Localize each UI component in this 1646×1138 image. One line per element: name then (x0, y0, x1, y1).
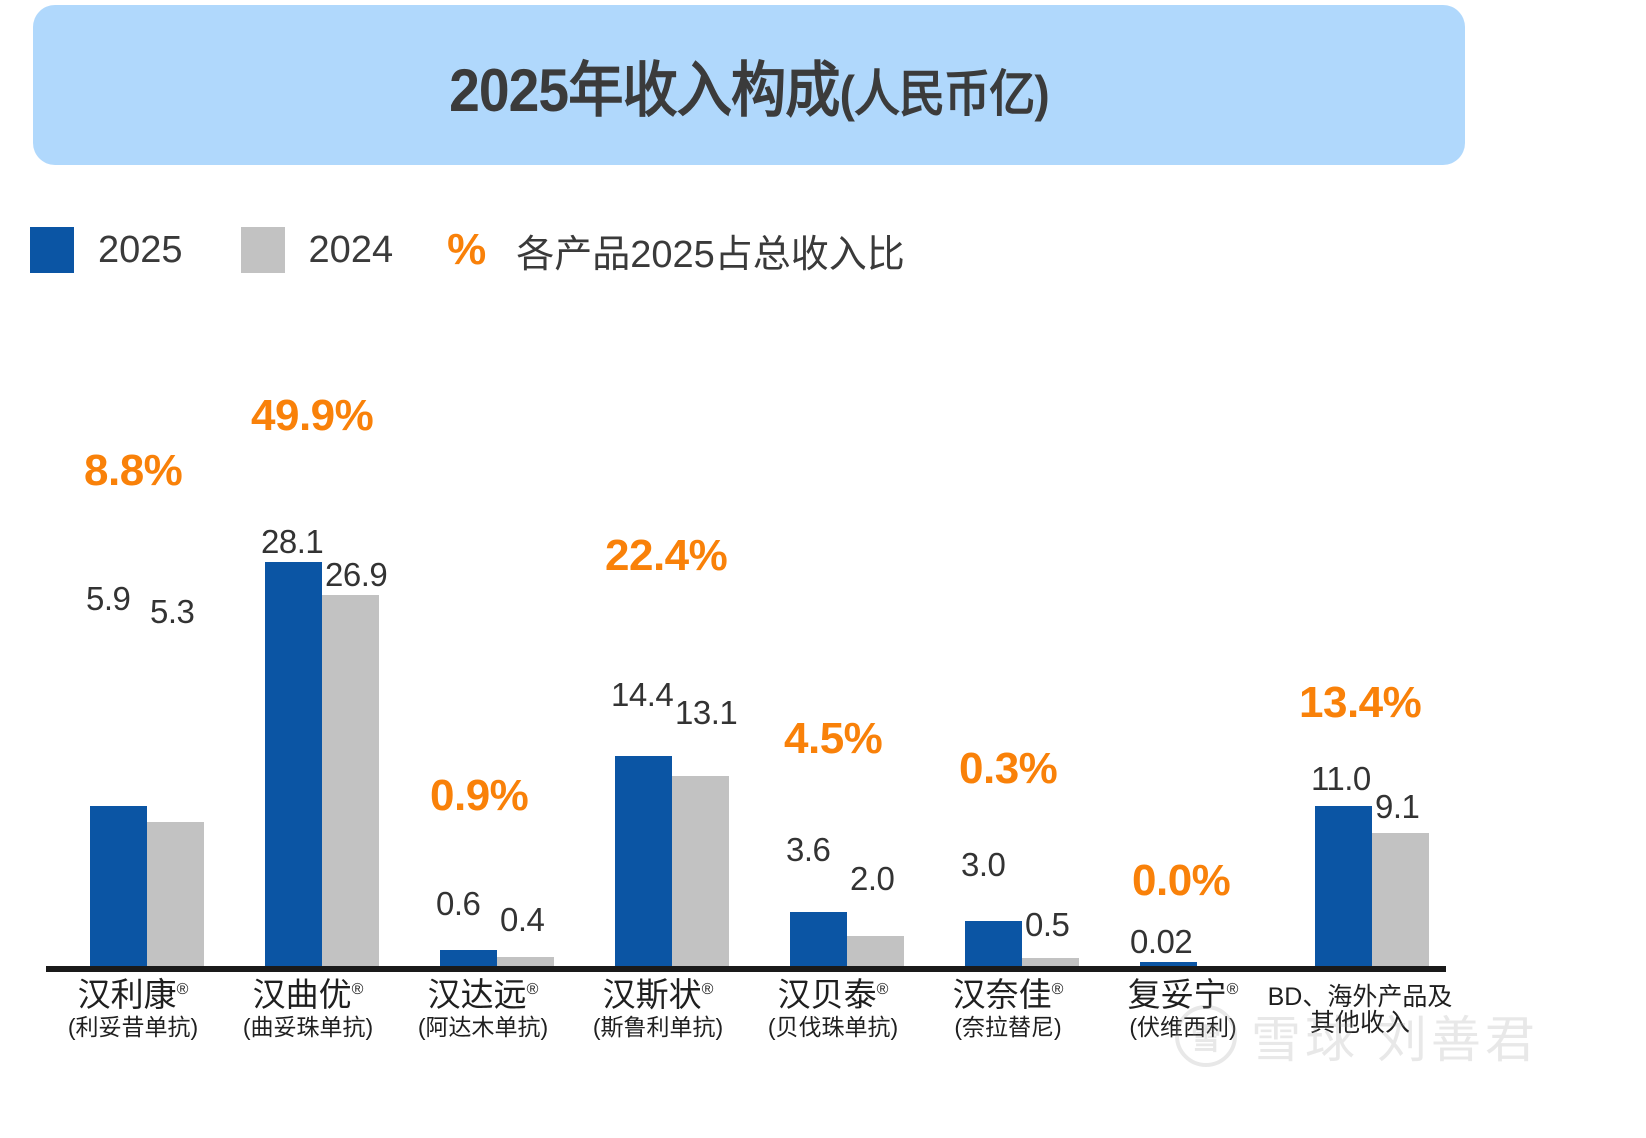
bar-2025[interactable] (1140, 962, 1197, 966)
x-tick-name: 汉贝泰® (778, 976, 889, 1013)
x-tick-label: 汉斯状® (斯鲁利单抗) (563, 978, 753, 1040)
x-tick-name: 汉曲优® (253, 976, 364, 1013)
bar-2024[interactable] (147, 822, 204, 966)
bars (921, 330, 1096, 966)
x-tick-sub: (斯鲁利单抗) (563, 1016, 753, 1040)
bar-2024[interactable] (1022, 958, 1079, 966)
legend-item-2024[interactable]: 2024 (241, 227, 394, 273)
legend-item-percent[interactable]: % 各产品2025占总收入比 (447, 223, 905, 278)
x-tick-name: 汉奈佳® (953, 976, 1064, 1013)
x-tick-sub: (利妥昔单抗) (38, 1016, 228, 1040)
x-tick-label: 汉曲优® (曲妥珠单抗) (213, 978, 403, 1040)
percent-symbol-icon: % (447, 225, 486, 275)
legend-swatch-gray-icon (241, 227, 285, 273)
legend-label-percent: 各产品2025占总收入比 (516, 223, 905, 278)
bars (221, 330, 396, 966)
x-tick-sub: (伏维西利) (1088, 1016, 1278, 1040)
bar-group: 13.4% 11.0 9.1 (1271, 330, 1446, 966)
bar-2025[interactable] (265, 562, 322, 966)
x-tick-sub: (贝伐珠单抗) (738, 1016, 928, 1040)
bars (46, 330, 221, 966)
x-tick-label: 汉达远® (阿达木单抗) (388, 978, 578, 1040)
legend-item-2025[interactable]: 2025 (30, 227, 183, 273)
bar-2025[interactable] (1315, 806, 1372, 966)
x-tick-label: 汉贝泰® (贝伐珠单抗) (738, 978, 928, 1040)
bar-2025[interactable] (440, 950, 497, 966)
title-main: 2025年收入构成 (449, 57, 840, 124)
bars (1271, 330, 1446, 966)
legend-label-2024: 2024 (309, 229, 394, 272)
legend-swatch-blue-icon (30, 227, 74, 273)
bar-2024[interactable] (672, 776, 729, 966)
x-axis-line (46, 966, 1446, 972)
plot-area: 8.8% 5.9 5.3 49.9% 28.1 26.9 0.9% 0.6 0.… (46, 330, 1446, 972)
x-tick-name: 汉斯状® (603, 976, 714, 1013)
title-banner: 2025年收入构成(人民币亿) (33, 5, 1465, 165)
x-tick-label: 汉利康® (利妥昔单抗) (38, 978, 228, 1040)
bar-2025[interactable] (965, 921, 1022, 966)
chart-legend: 2025 2024 % 各产品2025占总收入比 (30, 222, 905, 278)
x-tick-name: 复妥宁® (1128, 976, 1239, 1013)
bars (396, 330, 571, 966)
bar-2024[interactable] (847, 936, 904, 966)
bar-2025[interactable] (615, 756, 672, 966)
bar-2024[interactable] (322, 595, 379, 966)
legend-label-2025: 2025 (98, 229, 183, 272)
bars (746, 330, 921, 966)
bar-2025[interactable] (90, 806, 147, 966)
bar-group: 49.9% 28.1 26.9 (221, 330, 396, 966)
bar-group: 8.8% 5.9 5.3 (46, 330, 221, 966)
bar-group: 22.4% 14.4 13.1 (571, 330, 746, 966)
x-tick-label: 汉奈佳® (奈拉替尼) (913, 978, 1103, 1040)
bar-2025[interactable] (790, 912, 847, 966)
bar-group: 0.3% 3.0 0.5 (921, 330, 1096, 966)
page-title: 2025年收入构成(人民币亿) (449, 42, 1049, 129)
x-tick-label: 复妥宁® (伏维西利) (1088, 978, 1278, 1040)
x-tick-sub: (奈拉替尼) (913, 1016, 1103, 1040)
x-tick-name: 汉利康® (78, 976, 189, 1013)
x-tick-sub: (阿达木单抗) (388, 1016, 578, 1040)
bar-2024[interactable] (1372, 833, 1429, 966)
bar-group: 0.9% 0.6 0.4 (396, 330, 571, 966)
bar-2024[interactable] (497, 957, 554, 966)
x-tick-name: BD、海外产品及其他收入 (1268, 983, 1453, 1037)
x-tick-name: 汉达远® (428, 976, 539, 1013)
chart-canvas: 2025年收入构成(人民币亿) 2025 2024 % 各产品2025占总收入比… (0, 0, 1646, 1138)
bars (571, 330, 746, 966)
x-tick-label: BD、海外产品及其他收入 (1265, 984, 1455, 1036)
bars (1096, 330, 1271, 966)
title-unit: (人民币亿) (840, 66, 1049, 122)
bar-group: 4.5% 3.6 2.0 (746, 330, 921, 966)
bar-group: 0.0% 0.02 (1096, 330, 1271, 966)
x-axis-labels: 汉利康® (利妥昔单抗) 汉曲优® (曲妥珠单抗) 汉达远® (阿达木单抗) 汉… (46, 978, 1446, 1108)
x-tick-sub: (曲妥珠单抗) (213, 1016, 403, 1040)
